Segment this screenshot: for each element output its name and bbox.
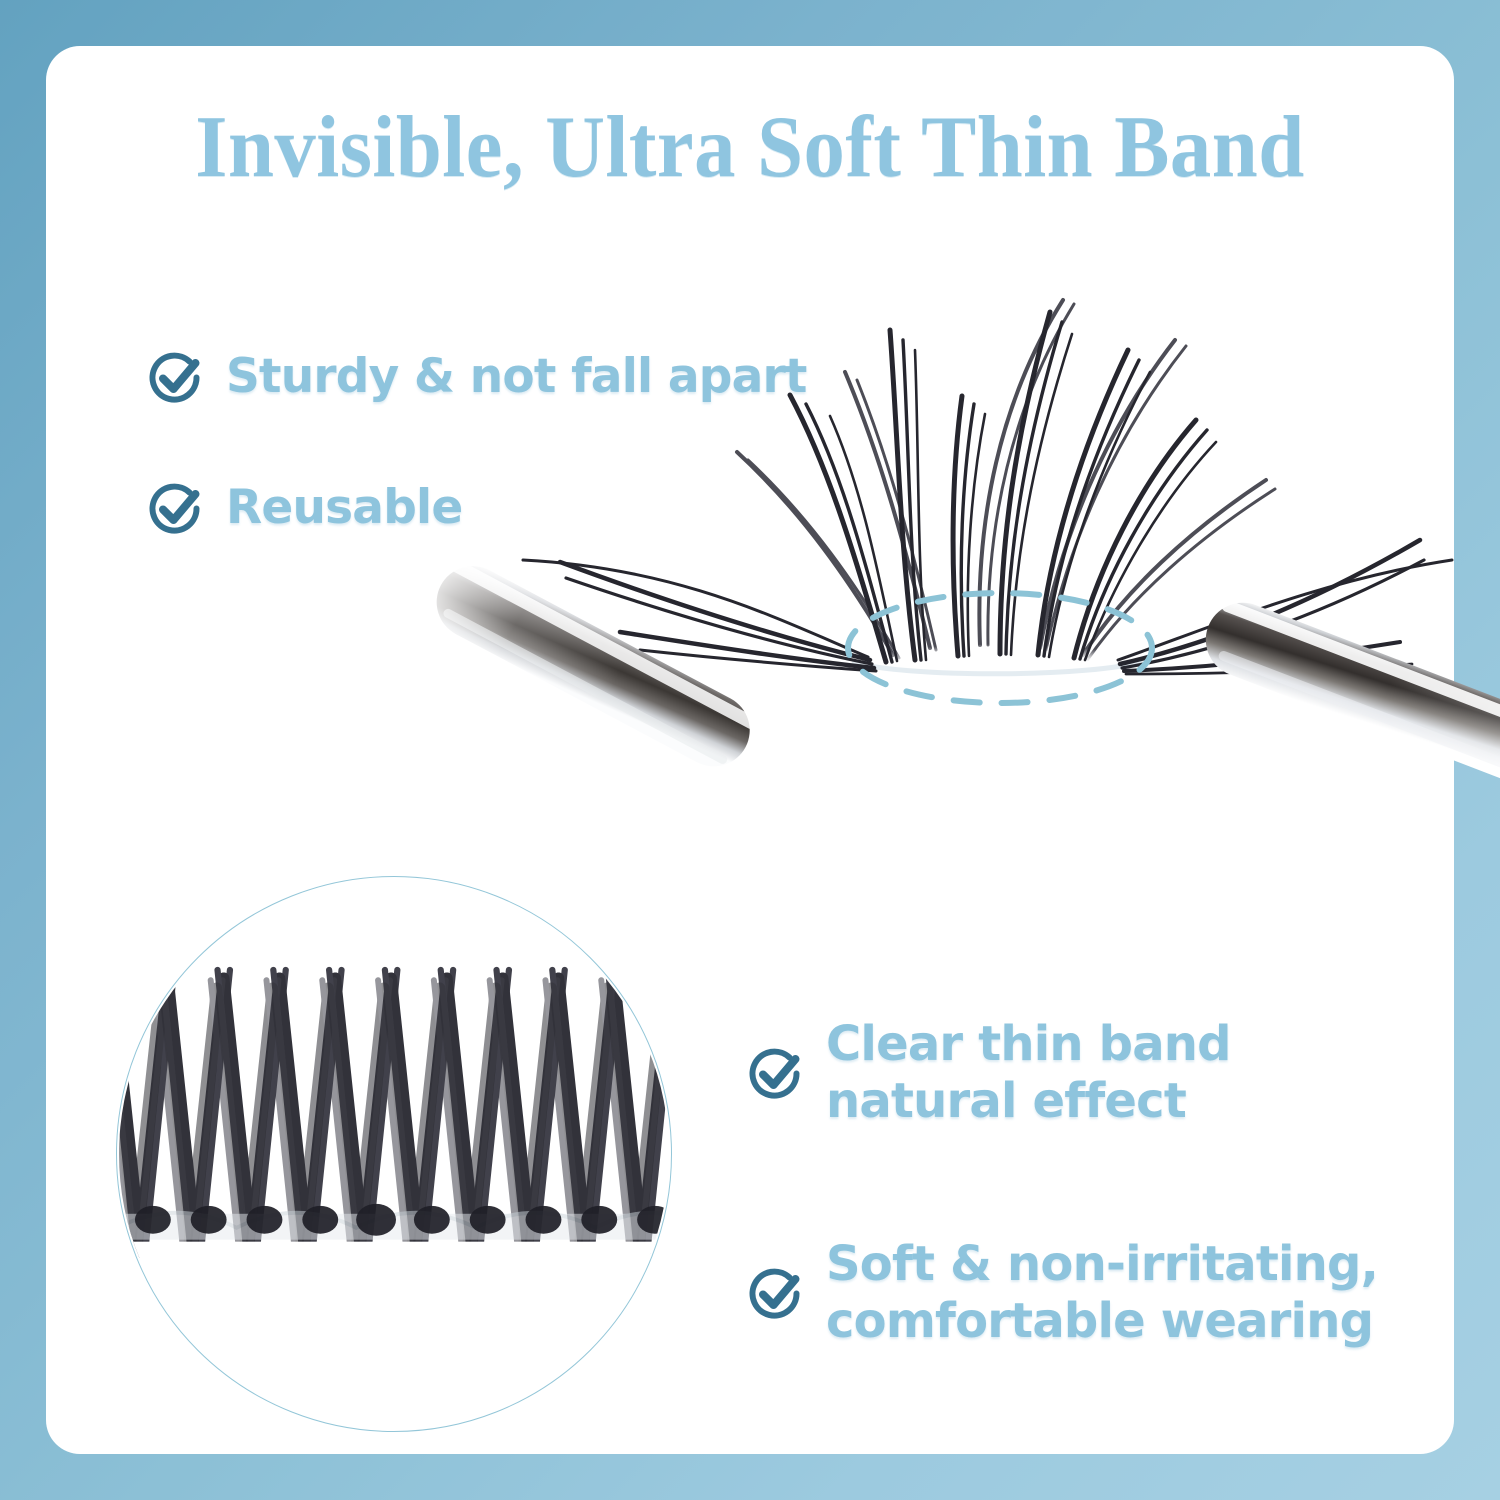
feature-item-soft: Soft & non-irritating, comfortable weari… [748, 1236, 1378, 1349]
feature-label: Sturdy & not fall apart [226, 349, 807, 404]
check-circle-icon [748, 1045, 804, 1101]
feature-label: Soft & non-irritating, comfortable weari… [826, 1236, 1378, 1349]
check-circle-icon [748, 1265, 804, 1321]
feature-item-reusable: Reusable [148, 480, 462, 536]
macro-lash-weave-inset [116, 876, 672, 1432]
feature-item-clear-band: Clear thin band natural effect [748, 1016, 1231, 1129]
feature-label: Clear thin band natural effect [826, 1016, 1231, 1129]
check-circle-icon [148, 349, 204, 405]
infographic-root: Invisible, Ultra Soft Thin Band [0, 0, 1500, 1500]
check-circle-icon [148, 480, 204, 536]
feature-item-sturdy: Sturdy & not fall apart [148, 349, 807, 405]
page-title: Invisible, Ultra Soft Thin Band [88, 102, 1412, 194]
feature-label: Reusable [226, 480, 462, 535]
